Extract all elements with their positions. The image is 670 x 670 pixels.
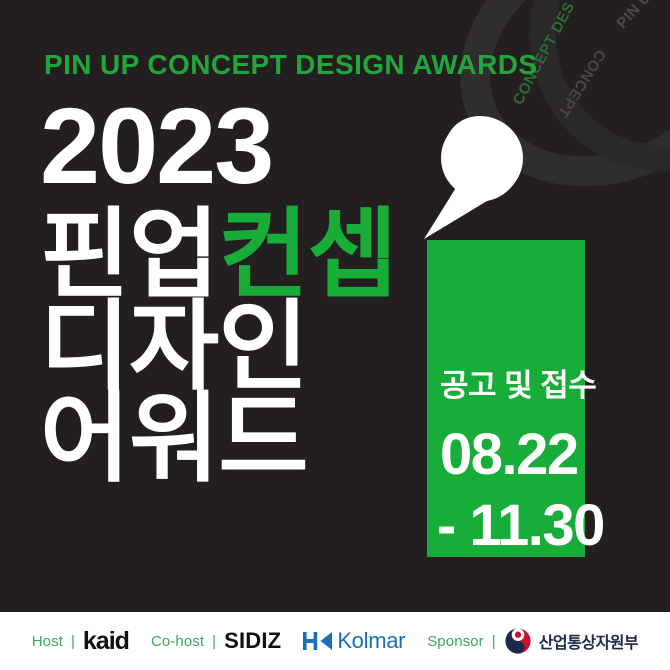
- headline-line-1: 핀업컨셉: [40, 205, 440, 303]
- logo-kolmar-word: Kolmar: [337, 628, 405, 654]
- date-start: 08.22: [440, 421, 578, 488]
- footer-group-cohost: Co-host | SIDIZ: [151, 628, 281, 654]
- footer-role-host: Host: [32, 633, 63, 650]
- footer-group-kolmar[interactable]: Kolmar: [303, 628, 405, 654]
- date-end: - 11.30: [437, 492, 604, 559]
- date-panel-label: 공고 및 접수: [440, 360, 596, 405]
- eyebrow-title: PIN UP CONCEPT DESIGN AWARDS: [44, 49, 538, 81]
- logo-motie[interactable]: 산업통상자원부: [504, 627, 639, 655]
- footer-group-sponsor: Sponsor | 산업통상자원부: [427, 627, 638, 655]
- logo-kaid[interactable]: kaid: [83, 627, 129, 656]
- footer-separator: |: [492, 633, 496, 650]
- headline-line-2: 디자인: [40, 297, 440, 395]
- headline-line-3: 어워드: [40, 389, 440, 487]
- ribbon-text: CONCEPT: [554, 46, 609, 120]
- footer-separator: |: [71, 633, 75, 650]
- logo-sidiz[interactable]: SIDIZ: [224, 628, 281, 654]
- hk-mark-icon: [303, 630, 333, 652]
- footer-role-sponsor: Sponsor: [427, 633, 484, 650]
- taegeuk-icon: [504, 627, 532, 655]
- sponsor-footer: Host | kaid Co-host | SIDIZ Kolmar Spons…: [0, 612, 670, 670]
- poster-canvas: CONCEPT DES CONCEPT PIN UP PIN UP CONCEP…: [0, 0, 670, 670]
- footer-group-host: Host | kaid: [32, 627, 129, 656]
- ribbon-text: PIN UP: [613, 0, 661, 32]
- headline-year: 2023: [40, 96, 440, 195]
- footer-separator: |: [212, 633, 216, 650]
- footer-role-cohost: Co-host: [151, 633, 204, 650]
- logo-motie-word: 산업통상자원부: [539, 629, 639, 653]
- headline-block: 2023 핀업컨셉 디자인 어워드: [40, 96, 440, 487]
